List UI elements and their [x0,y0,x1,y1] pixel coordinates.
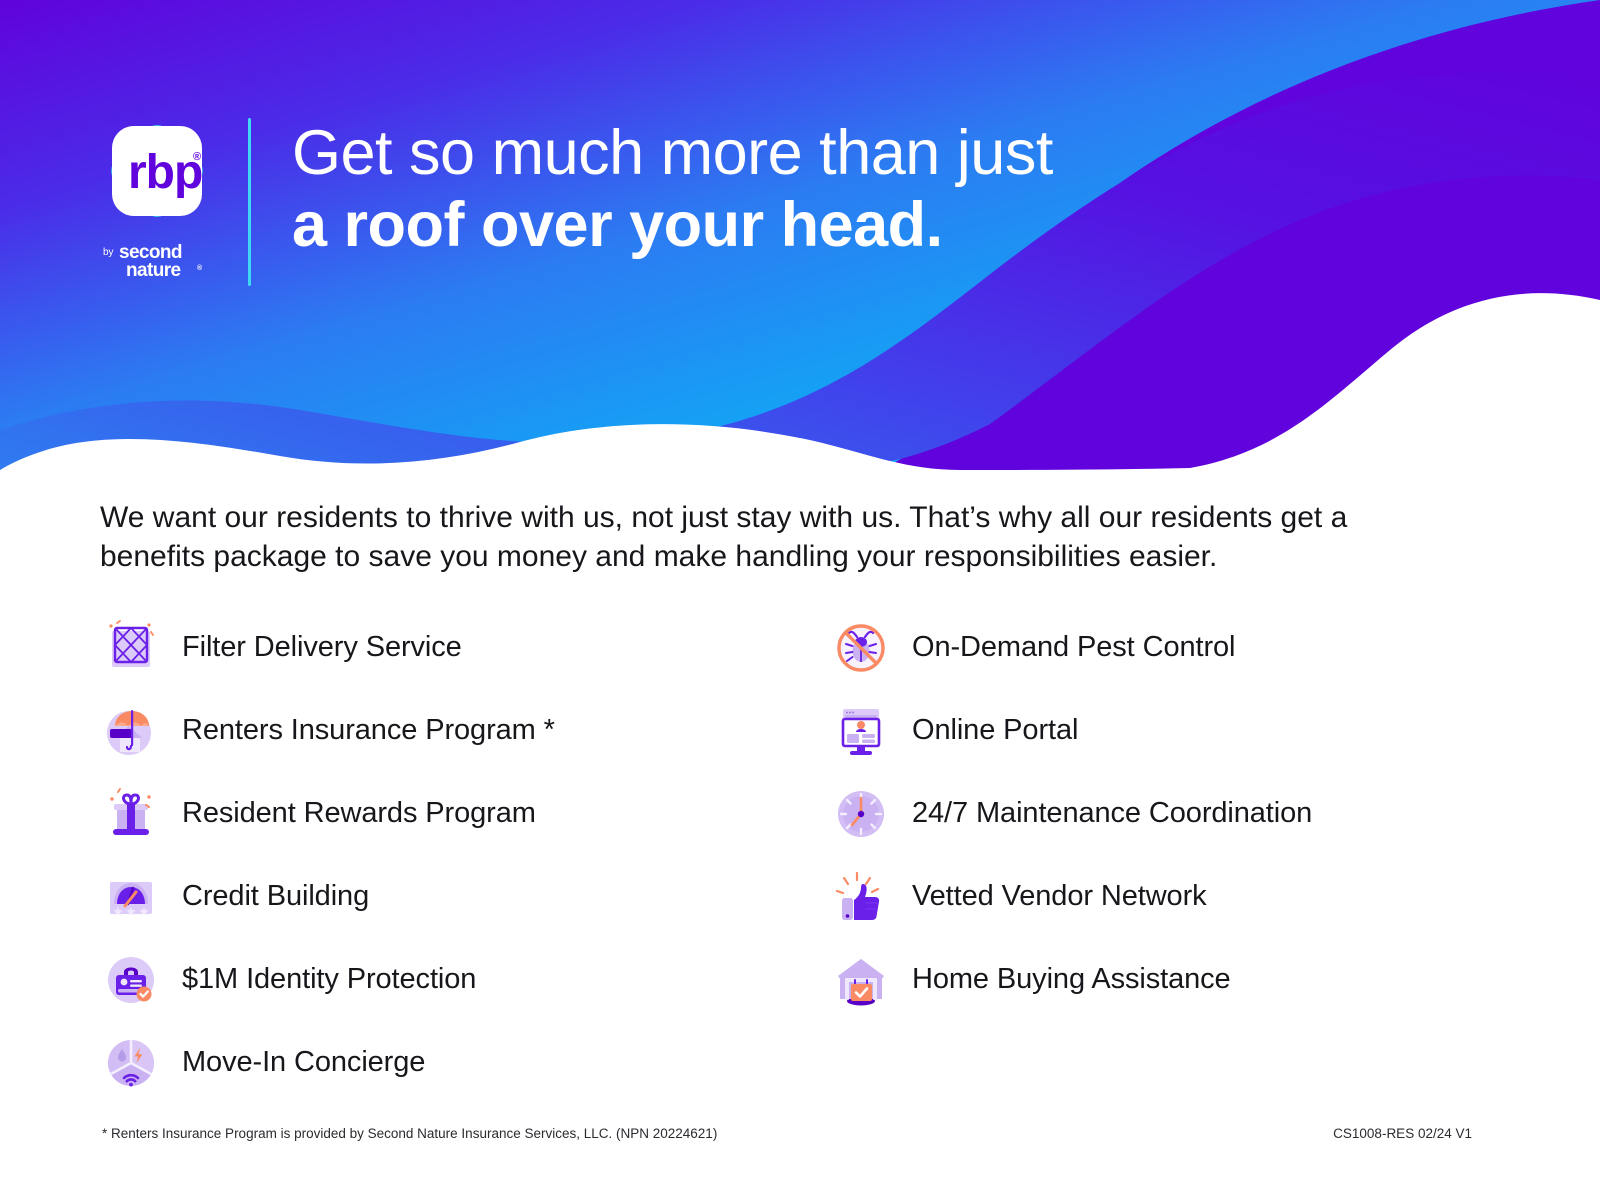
second-nature-wordmark-icon: by second nature ® [101,240,213,282]
benefit-item-maintenance-coordination[interactable]: 24/7 Maintenance Coordination [830,772,1520,855]
second-nature-byline: by second nature ® [98,240,216,282]
benefit-label: Resident Rewards Program [182,797,536,830]
footer-doc-code: CS1008-RES 02/24 V1 [1333,1126,1472,1141]
gift-box-icon [100,783,162,845]
benefit-item-identity-protection[interactable]: $1M Identity Protection [100,938,830,1021]
benefit-label: Home Buying Assistance [912,963,1231,996]
umbrella-house-icon [100,700,162,762]
benefit-label: 24/7 Maintenance Coordination [912,797,1312,830]
credit-gauge-icon [100,866,162,928]
svg-text:®: ® [197,264,203,272]
utilities-circle-icon [100,1032,162,1094]
benefit-item-resident-rewards-program[interactable]: Resident Rewards Program [100,772,830,855]
benefit-label: Renters Insurance Program * [182,714,555,747]
benefits-column-right: On-Demand Pest Control [830,606,1520,1104]
monitor-portal-icon [830,700,892,762]
svg-text:nature: nature [126,260,181,281]
air-filter-icon [100,617,162,679]
benefit-item-vetted-vendor-network[interactable]: Vetted Vendor Network [830,855,1520,938]
svg-text:by: by [103,247,114,258]
house-sign-icon [830,949,892,1011]
rbp-logo: rbp ® by second nature ® [98,112,216,282]
clock-icon [830,783,892,845]
footer-disclaimer: * Renters Insurance Program is provided … [102,1126,717,1141]
rbp-logo-mark: rbp ® [98,112,216,230]
no-bug-icon [830,617,892,679]
benefit-item-credit-building[interactable]: Credit Building [100,855,830,938]
benefits-list: Filter Delivery Service Renters Insuranc… [100,606,1520,1104]
benefit-item-renters-insurance-program[interactable]: Renters Insurance Program * [100,689,830,772]
header-divider [248,118,251,286]
headline-line-1: Get so much more than just [292,118,1292,188]
id-badge-check-icon [100,949,162,1011]
hero-banner: rbp ® by second nature ® Get so much mor… [0,0,1600,470]
benefit-item-pest-control[interactable]: On-Demand Pest Control [830,606,1520,689]
benefit-label: Online Portal [912,714,1078,747]
page-title: Get so much more than just a roof over y… [292,118,1292,262]
headline-line-2: a roof over your head. [292,188,1292,262]
intro-paragraph: We want our residents to thrive with us,… [100,498,1440,576]
benefits-column-left: Filter Delivery Service Renters Insuranc… [100,606,830,1104]
benefit-label: Filter Delivery Service [182,631,462,664]
benefit-item-online-portal[interactable]: Online Portal [830,689,1520,772]
rbp-badge-icon: rbp ® [98,112,216,230]
benefit-item-filter-delivery-service[interactable]: Filter Delivery Service [100,606,830,689]
benefit-label: On-Demand Pest Control [912,631,1235,664]
benefit-label: Vetted Vendor Network [912,880,1207,913]
benefit-label: Credit Building [182,880,369,913]
benefit-item-move-in-concierge[interactable]: Move-In Concierge [100,1021,830,1104]
thumbs-up-icon [830,866,892,928]
benefit-item-home-buying-assistance[interactable]: Home Buying Assistance [830,938,1520,1021]
benefit-label: Move-In Concierge [182,1046,425,1079]
svg-text:®: ® [193,151,201,163]
benefit-label: $1M Identity Protection [182,963,476,996]
svg-text:rbp: rbp [128,146,202,199]
